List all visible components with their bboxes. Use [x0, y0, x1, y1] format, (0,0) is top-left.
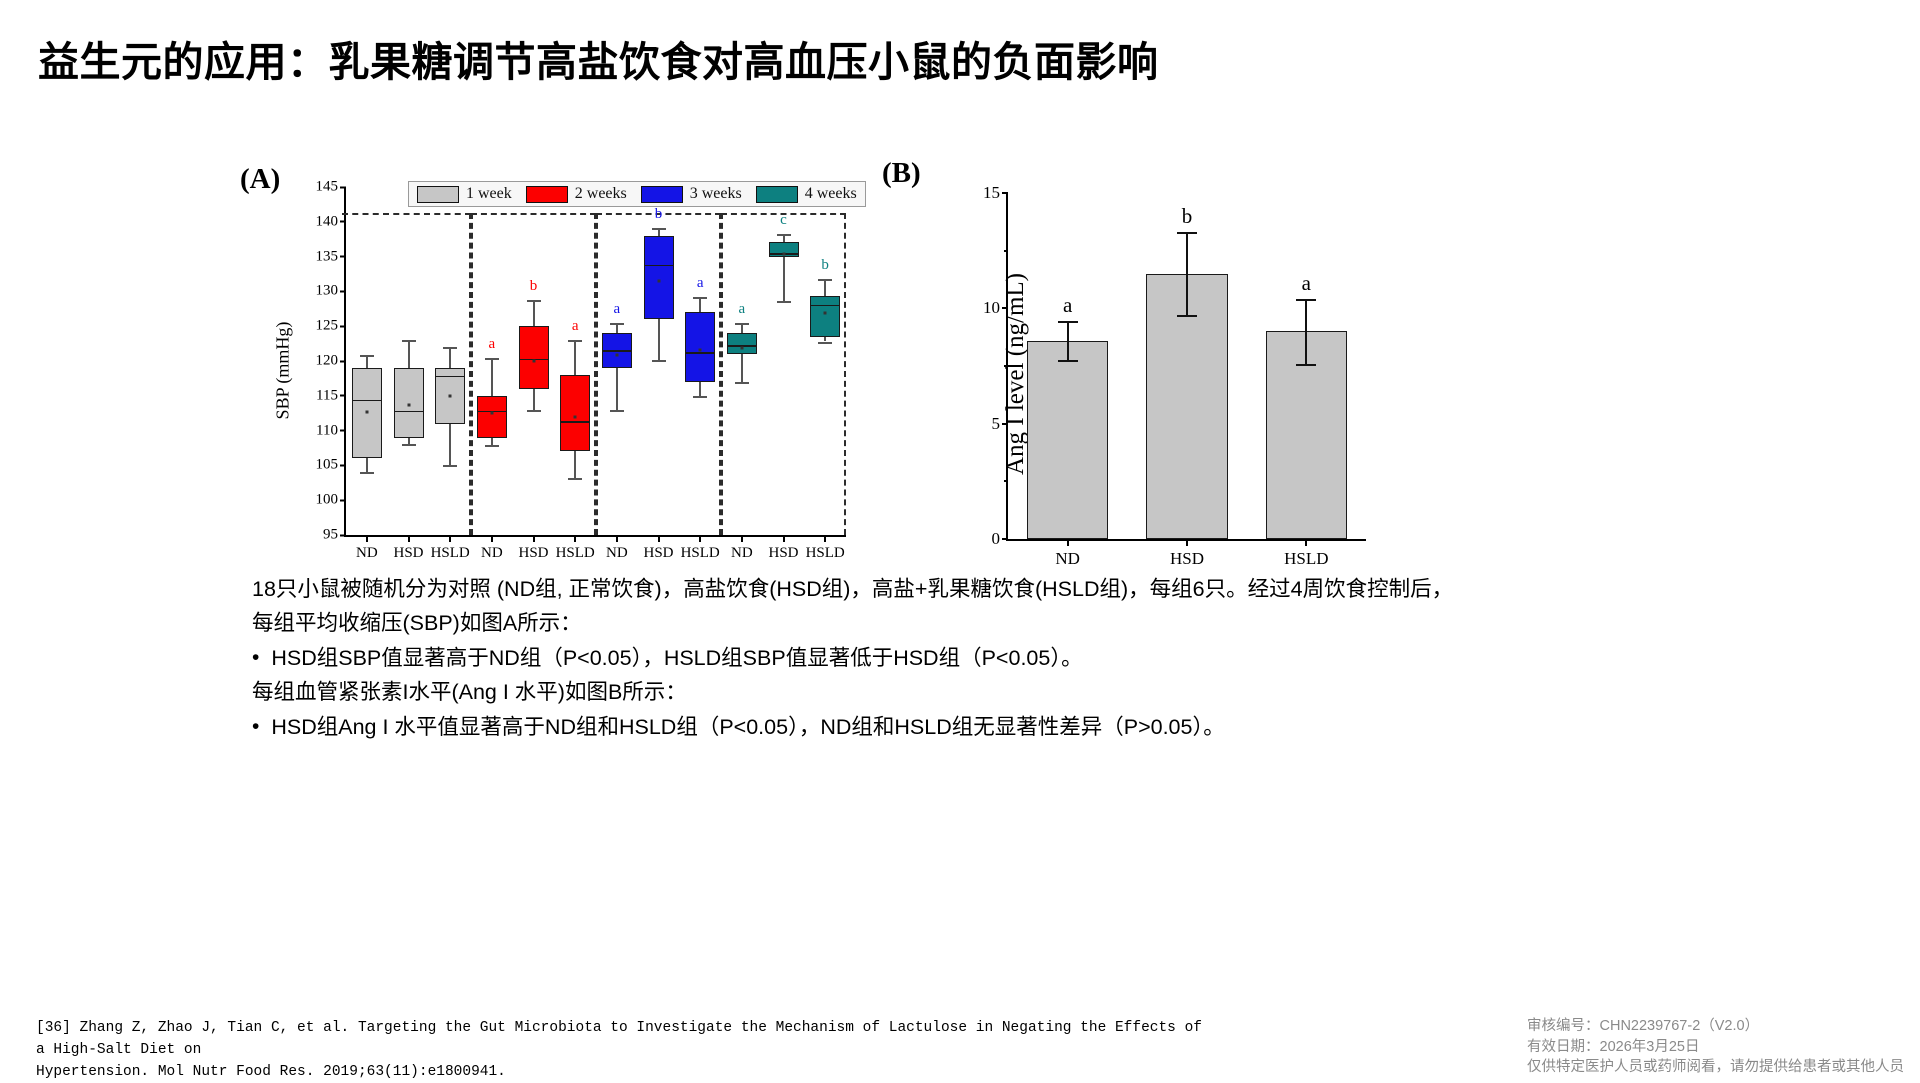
legend-item: 1 week [417, 185, 512, 203]
box-plot-item: b [810, 187, 840, 535]
bullet-marker: • [252, 711, 259, 743]
body-line-1: 18只小鼠被随机分为对照 (ND组, 正常饮食)，高盐饮食(HSD组)，高盐+乳… [252, 573, 1552, 605]
panel-a-x-tick-label: ND [606, 545, 628, 562]
body-bullet-1-text: HSD组SBP值显著高于ND组（P<0.05），HSLD组SBP值显著低于HSD… [271, 642, 1082, 674]
panel-b-x-tick-mark [1067, 539, 1069, 546]
whisker-cap [777, 301, 791, 303]
box [602, 333, 632, 368]
legend-item: 2 weeks [526, 185, 627, 203]
panel-a-boxplot: (A) SBP (mmHg) 9510010511011512012513013… [236, 155, 856, 585]
whisker-cap [818, 342, 832, 344]
panel-b-y-tick: 5 [992, 414, 1009, 434]
significance-letter: a [488, 336, 495, 353]
significance-letter: b [530, 278, 538, 295]
page-title: 益生元的应用：乳果糖调节高盐饮食对高血压小鼠的负面影响 [38, 28, 1159, 88]
median-line [686, 352, 714, 354]
box [685, 312, 715, 382]
error-bar-cap [1296, 364, 1316, 366]
panel-a-x-tick-mark [449, 535, 451, 542]
error-bar [1067, 321, 1069, 360]
panel-b-y-tick: 0 [992, 529, 1009, 549]
significance-letter: c [780, 212, 787, 229]
error-bar-cap [1058, 321, 1078, 323]
median-line [603, 350, 631, 352]
median-line [561, 421, 589, 423]
panel-a-x-tick-mark [408, 535, 410, 542]
panel-a-x-tick-mark [574, 535, 576, 542]
box-plot-item: a [602, 187, 632, 535]
approval-expiry: 有效日期：2026年3月25日 [1527, 1037, 1904, 1058]
panel-b-plot-region: 051015aNDbHSDaHSLD [1006, 193, 1366, 541]
whisker-cap [777, 234, 791, 236]
panel-b-x-tick-label: HSLD [1284, 549, 1328, 569]
whisker-cap [735, 382, 749, 384]
whisker-cap [693, 396, 707, 398]
box [644, 236, 674, 320]
mean-marker [615, 354, 618, 357]
whisker-cap [402, 340, 416, 342]
reference-line-1: [36] Zhang Z, Zhao J, Tian C, et al. Tar… [36, 1017, 1216, 1061]
panel-a-x-tick-label: ND [481, 545, 503, 562]
significance-letter: a [738, 301, 745, 318]
panel-b-x-tick-label: HSD [1170, 549, 1204, 569]
body-bullet-1: • HSD组SBP值显著高于ND组（P<0.05），HSLD组SBP值显著低于H… [252, 642, 1552, 674]
legend-item: 4 weeks [756, 185, 857, 203]
legend-label: 2 weeks [575, 185, 627, 203]
whisker-cap [610, 323, 624, 325]
panel-b-y-tick: 15 [983, 183, 1008, 203]
bar-item: a [1266, 193, 1347, 539]
panel-a-legend: 1 week2 weeks3 weeks4 weeks [408, 181, 866, 207]
whisker-cap [360, 355, 374, 357]
whisker-cap [652, 360, 666, 362]
box-plot-item: b [644, 187, 674, 535]
body-text: 18只小鼠被随机分为对照 (ND组, 正常饮食)，高盐饮食(HSD组)，高盐+乳… [252, 573, 1552, 743]
mean-marker [574, 416, 577, 419]
legend-label: 1 week [466, 185, 512, 203]
median-line [395, 411, 423, 413]
significance-letter: a [572, 318, 579, 335]
box [769, 242, 799, 257]
legend-swatch [526, 186, 568, 203]
panel-a-y-tick: 100 [316, 492, 347, 509]
error-bar [1186, 232, 1188, 315]
bullet-marker: • [252, 642, 259, 674]
box [477, 396, 507, 438]
mean-marker [824, 311, 827, 314]
panel-a-x-tick-label: HSLD [681, 545, 720, 562]
box-plot-item: a [727, 187, 757, 535]
whisker-cap [568, 478, 582, 480]
panel-a-x-tick-mark [741, 535, 743, 542]
panel-a-x-tick-mark [491, 535, 493, 542]
panel-a-y-tick: 130 [316, 283, 347, 300]
panel-a-y-tick: 110 [316, 422, 346, 439]
panel-a-y-tick: 145 [316, 179, 347, 196]
bar-item: b [1146, 193, 1227, 539]
body-line-3: 每组血管紧张素I水平(Ang I 水平)如图B所示： [252, 676, 1552, 708]
median-line [353, 400, 381, 402]
legend-label: 4 weeks [805, 185, 857, 203]
median-line [436, 376, 464, 378]
whisker-cap [610, 410, 624, 412]
mean-marker [699, 348, 702, 351]
legend-label: 3 weeks [690, 185, 742, 203]
significance-letter: b [655, 206, 663, 223]
panel-a-x-tick-label: HSD [643, 545, 673, 562]
whisker-cap [485, 445, 499, 447]
panel-a-x-tick-mark [616, 535, 618, 542]
whisker-cap [735, 323, 749, 325]
significance-letter: b [821, 257, 829, 274]
panel-a-x-tick-label: HSD [393, 545, 423, 562]
mean-marker [365, 411, 368, 414]
whisker-cap [568, 340, 582, 342]
box-plot-item: a [685, 187, 715, 535]
box [560, 375, 590, 452]
panel-b-x-tick-mark [1305, 539, 1307, 546]
panel-a-x-tick-mark [366, 535, 368, 542]
error-bar-cap [1177, 315, 1197, 317]
median-line [811, 305, 839, 307]
panel-b-label: (B) [882, 157, 921, 190]
panel-a-y-tick: 105 [316, 457, 347, 474]
box-plot-item [352, 187, 382, 535]
box-plot-item: a [477, 187, 507, 535]
error-bar-cap [1177, 232, 1197, 234]
box-plot-item: b [519, 187, 549, 535]
whisker-cap [402, 444, 416, 446]
whisker-cap [652, 228, 666, 230]
panel-a-x-tick-label: HSLD [556, 545, 595, 562]
box-plot-item: c [769, 187, 799, 535]
panel-a-y-tick: 115 [316, 387, 346, 404]
box-plot-item [394, 187, 424, 535]
panel-a-y-tick: 95 [323, 527, 346, 544]
whisker-cap [485, 358, 499, 360]
box [727, 333, 757, 354]
panel-a-y-tick: 135 [316, 248, 347, 265]
bar [1027, 341, 1108, 539]
mean-marker [782, 252, 785, 255]
approval-number: 审核编号：CHN2239767-2（V2.0） [1527, 1016, 1904, 1037]
panel-a-y-tick: 120 [316, 353, 347, 370]
panel-a-y-axis-title: SBP (mmHg) [273, 291, 294, 451]
panel-a-x-tick-mark [824, 535, 826, 542]
mean-marker [657, 280, 660, 283]
box [519, 326, 549, 389]
mean-marker [449, 395, 452, 398]
panel-a-x-tick-label: HSLD [431, 545, 470, 562]
error-bar-cap [1058, 360, 1078, 362]
whisker-cap [693, 297, 707, 299]
legend-swatch [756, 186, 798, 203]
panel-b-x-tick-mark [1186, 539, 1188, 546]
panel-a-x-tick-label: HSD [768, 545, 798, 562]
panel-a-y-tick: 125 [316, 318, 347, 335]
panel-a-label: (A) [240, 163, 280, 196]
mean-marker [532, 359, 535, 362]
box-plot-item [435, 187, 465, 535]
reference-citation: [36] Zhang Z, Zhao J, Tian C, et al. Tar… [36, 1017, 1216, 1083]
legend-item: 3 weeks [641, 185, 742, 203]
panel-a-x-tick-mark [658, 535, 660, 542]
panel-a-x-tick-mark [783, 535, 785, 542]
panel-a-x-tick-label: ND [731, 545, 753, 562]
whisker-cap [443, 347, 457, 349]
box [810, 296, 840, 336]
approval-block: 审核编号：CHN2239767-2（V2.0） 有效日期：2026年3月25日 … [1527, 1016, 1904, 1078]
panel-a-x-tick-mark [533, 535, 535, 542]
whisker-cap [527, 300, 541, 302]
mean-marker [407, 404, 410, 407]
panel-a-y-tick: 140 [316, 213, 347, 230]
significance-letter: a [1063, 293, 1072, 318]
significance-letter: a [613, 301, 620, 318]
legend-swatch [417, 186, 459, 203]
whisker-cap [527, 410, 541, 412]
box [435, 368, 465, 424]
error-bar-cap [1296, 299, 1316, 301]
body-bullet-2: • HSD组Ang I 水平值显著高于ND组和HSLD组（P<0.05），ND组… [252, 711, 1552, 743]
box [394, 368, 424, 438]
approval-disclaimer: 仅供特定医护人员或药师阅看，请勿提供给患者或其他人员 [1527, 1057, 1904, 1078]
panel-a-plot-region: 95100105110115120125130135140145NDHSDHSL… [344, 187, 846, 537]
mean-marker [490, 412, 493, 415]
panel-a-x-tick-label: HSD [518, 545, 548, 562]
body-bullet-2-text: HSD组Ang I 水平值显著高于ND组和HSLD组（P<0.05），ND组和H… [271, 711, 1224, 743]
panel-b-y-tick: 10 [983, 298, 1008, 318]
box-plot-item: a [560, 187, 590, 535]
significance-letter: b [1182, 204, 1193, 229]
mean-marker [740, 346, 743, 349]
box [352, 368, 382, 458]
figure-area: (A) SBP (mmHg) 9510010511011512012513013… [236, 155, 1556, 585]
panel-a-x-tick-mark [699, 535, 701, 542]
error-bar [1305, 299, 1307, 364]
legend-swatch [641, 186, 683, 203]
median-line [645, 265, 673, 267]
significance-letter: a [697, 275, 704, 292]
panel-b-x-tick-label: ND [1055, 549, 1080, 569]
body-line-2: 每组平均收缩压(SBP)如图A所示： [252, 607, 1552, 639]
whisker-cap [818, 279, 832, 281]
panel-a-x-tick-label: HSLD [806, 545, 845, 562]
panel-b-barchart: (B) Ang I level (ng/mL) 051015aNDbHSDaHS… [876, 155, 1436, 585]
panel-a-x-tick-label: ND [356, 545, 378, 562]
significance-letter: a [1302, 271, 1311, 296]
bar-item: a [1027, 193, 1108, 539]
whisker-cap [360, 472, 374, 474]
whisker-cap [443, 465, 457, 467]
